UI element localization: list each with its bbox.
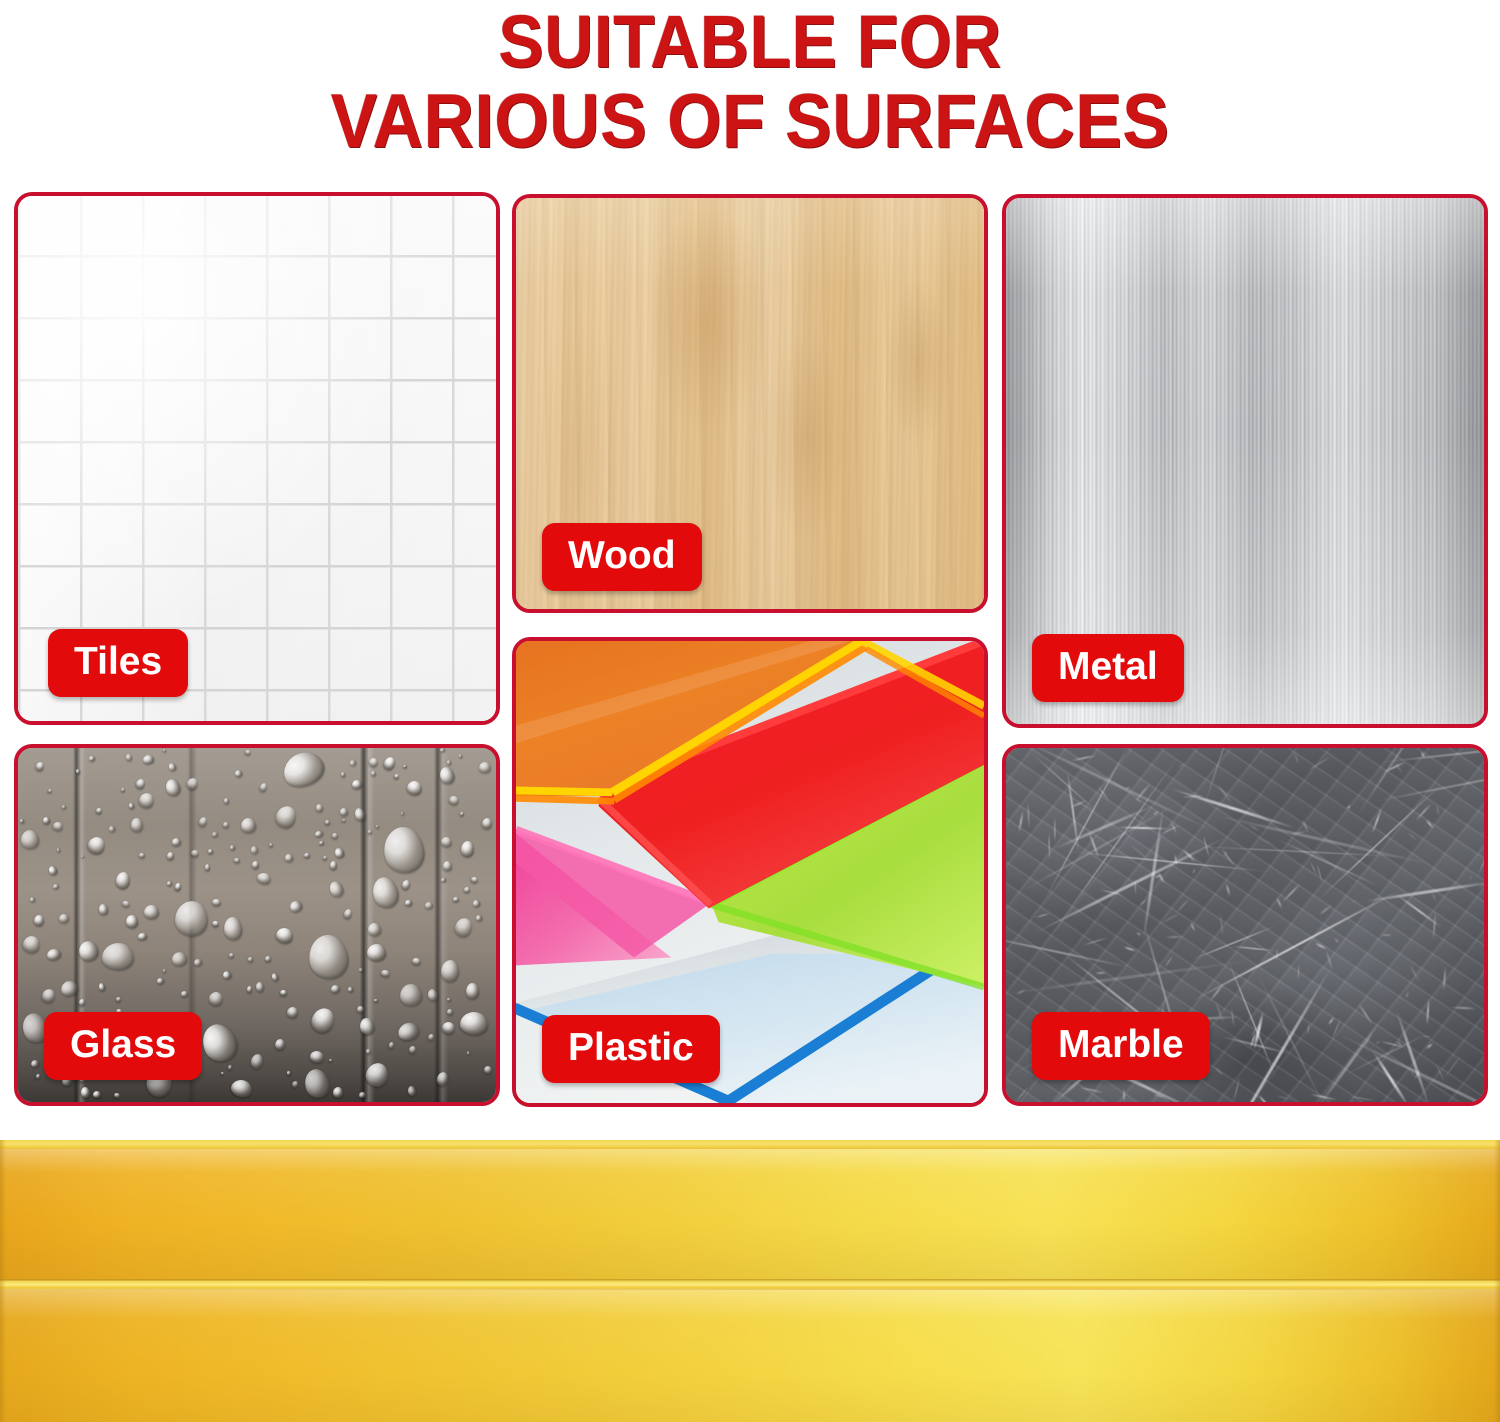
marble-vein xyxy=(1362,880,1488,903)
marble-speck xyxy=(1139,898,1147,905)
marble-speck xyxy=(1375,1040,1381,1045)
scraper-lower-face xyxy=(0,1290,1500,1422)
marble-speck xyxy=(1214,1000,1224,1024)
water-droplet xyxy=(367,922,381,936)
marble-speck xyxy=(1220,847,1236,867)
marble-vein xyxy=(1474,773,1488,881)
marble-speck xyxy=(1443,1054,1462,1078)
surface-card-tiles: Tiles xyxy=(14,192,500,725)
marble-speck xyxy=(1178,763,1185,768)
water-droplet xyxy=(180,991,187,997)
marble-speck xyxy=(1318,904,1332,916)
water-droplet xyxy=(339,807,348,816)
water-droplet xyxy=(248,957,253,962)
surface-label-marble: Marble xyxy=(1032,1012,1210,1080)
marble-speck xyxy=(1018,811,1024,832)
marble-speck xyxy=(1426,1043,1434,1050)
yellow-scraper-tool xyxy=(0,1140,1500,1422)
surface-card-glass: Glass xyxy=(14,744,500,1106)
water-droplet xyxy=(233,858,239,863)
marble-speck xyxy=(1422,1036,1432,1037)
marble-speck xyxy=(1071,755,1097,762)
marble-vein xyxy=(1116,827,1170,830)
marble-speck xyxy=(1346,805,1351,810)
page-title: SUITABLE FOR VARIOUS OF SURFACES xyxy=(60,2,1440,162)
marble-speck xyxy=(1349,1095,1376,1101)
water-droplet xyxy=(483,1065,492,1074)
marble-speck xyxy=(1088,831,1100,860)
water-droplet xyxy=(466,983,479,999)
surface-label-glass: Glass xyxy=(44,1012,202,1080)
marble-vein xyxy=(1478,859,1488,983)
marble-speck xyxy=(1213,1066,1224,1076)
water-droplet xyxy=(268,842,272,847)
water-droplet xyxy=(404,899,412,906)
marble-speck xyxy=(1054,817,1055,843)
marble-speck xyxy=(1309,861,1318,877)
marble-speck xyxy=(1027,801,1029,828)
surface-label-tiles: Tiles xyxy=(48,629,188,697)
water-droplet xyxy=(56,847,60,852)
marble-speck xyxy=(1095,971,1107,973)
surface-card-metal: Metal xyxy=(1002,194,1488,728)
marble-speck xyxy=(1136,931,1142,935)
water-droplet xyxy=(166,851,173,860)
marble-speck xyxy=(1426,998,1429,1026)
marble-speck xyxy=(1219,912,1223,937)
marble-vein xyxy=(1230,946,1276,952)
marble-speck xyxy=(1432,911,1436,940)
marble-speck xyxy=(1134,878,1135,895)
marble-speck xyxy=(1307,756,1332,772)
marble-speck xyxy=(1226,883,1232,897)
marble-vein xyxy=(1002,933,1135,970)
water-droplet xyxy=(42,816,50,824)
marble-speck xyxy=(1164,956,1173,968)
marble-speck xyxy=(1351,900,1357,902)
marble-speck xyxy=(1358,1002,1375,1025)
marble-speck xyxy=(1437,804,1440,816)
marble-speck xyxy=(1409,964,1420,981)
marble-speck xyxy=(1371,808,1382,834)
marble-speck xyxy=(1380,933,1393,935)
marble-speck xyxy=(1282,883,1302,903)
marble-speck xyxy=(1079,1086,1103,1093)
scraper-left-edge xyxy=(0,1140,6,1422)
water-droplet xyxy=(459,812,463,816)
water-droplet xyxy=(139,853,145,858)
marble-vein xyxy=(1214,964,1333,1106)
page-title-line2: VARIOUS OF SURFACES xyxy=(60,82,1440,162)
marble-speck xyxy=(1135,812,1147,821)
water-droplet xyxy=(367,830,371,835)
scraper-right-edge xyxy=(1494,1140,1500,1422)
marble-speck xyxy=(1432,892,1437,902)
marble-speck xyxy=(1123,1088,1125,1102)
page-title-line1: SUITABLE FOR xyxy=(498,0,1001,83)
marble-speck xyxy=(1160,911,1182,924)
water-droplet xyxy=(371,771,376,776)
marble-speck xyxy=(1082,937,1108,946)
surface-label-wood: Wood xyxy=(542,523,702,591)
marble-speck xyxy=(1275,1095,1291,1099)
water-droplet xyxy=(440,836,452,847)
marble-speck xyxy=(1014,1086,1029,1103)
marble-speck xyxy=(1334,938,1340,944)
marble-speck xyxy=(1257,1093,1272,1106)
marble-speck xyxy=(1407,832,1417,841)
surface-label-metal: Metal xyxy=(1032,634,1184,702)
marble-vein xyxy=(1273,836,1384,888)
water-droplet xyxy=(453,897,459,902)
water-droplet xyxy=(447,997,451,1000)
water-droplet xyxy=(121,788,125,792)
marble-speck xyxy=(1415,803,1432,821)
water-droplet xyxy=(246,985,252,992)
surface-card-marble: Marble xyxy=(1002,744,1488,1106)
marble-speck xyxy=(1405,992,1409,998)
water-droplet xyxy=(252,861,260,869)
marble-speck xyxy=(1479,830,1488,844)
water-droplet xyxy=(102,943,134,970)
water-droplet xyxy=(265,955,271,961)
infographic-page: SUITABLE FOR VARIOUS OF SURFACES Tiles W… xyxy=(0,0,1500,1422)
marble-speck xyxy=(1317,863,1324,884)
surface-card-plastic: Plastic xyxy=(512,637,988,1107)
water-droplet xyxy=(358,1091,366,1098)
water-droplet xyxy=(458,753,462,757)
marble-speck xyxy=(1257,837,1277,846)
marble-speck xyxy=(1190,922,1196,932)
water-droplet xyxy=(479,762,491,773)
marble-speck xyxy=(1216,783,1232,803)
water-droplet xyxy=(402,765,406,768)
water-droplet xyxy=(131,818,143,833)
scraper-upper-face xyxy=(0,1149,1500,1281)
marble-speck xyxy=(1328,1016,1335,1025)
marble-speck xyxy=(1298,963,1300,980)
water-droplet xyxy=(143,905,159,920)
water-droplet xyxy=(33,914,44,926)
marble-vein xyxy=(1191,925,1278,961)
marble-speck xyxy=(1443,966,1446,991)
marble-speck xyxy=(1176,898,1190,913)
water-droplet xyxy=(19,818,24,823)
marble-speck xyxy=(1165,936,1184,938)
marble-speck xyxy=(1193,868,1196,873)
surface-card-wood: Wood xyxy=(512,194,988,613)
marble-vein xyxy=(1034,835,1230,935)
water-droplet xyxy=(229,953,234,958)
marble-speck xyxy=(1127,843,1151,863)
water-droplet xyxy=(59,913,69,923)
marble-speck xyxy=(1449,1006,1476,1009)
surface-label-plastic: Plastic xyxy=(542,1015,720,1083)
marble-vein xyxy=(1002,959,1252,996)
water-droplet xyxy=(443,861,452,871)
marble-speck xyxy=(1209,982,1226,1002)
water-droplet xyxy=(205,864,210,871)
marble-speck xyxy=(1293,752,1299,764)
marble-speck xyxy=(1425,819,1434,828)
water-droplet xyxy=(325,819,331,824)
marble-speck xyxy=(1048,833,1050,861)
marble-speck xyxy=(1035,913,1050,918)
marble-speck xyxy=(1315,942,1328,950)
marble-speck xyxy=(1233,1076,1240,1103)
marble-speck xyxy=(1469,876,1473,880)
water-droplet xyxy=(163,969,166,973)
water-droplet xyxy=(125,753,132,761)
marble-speck xyxy=(1123,945,1137,952)
marble-speck xyxy=(1307,1022,1309,1035)
